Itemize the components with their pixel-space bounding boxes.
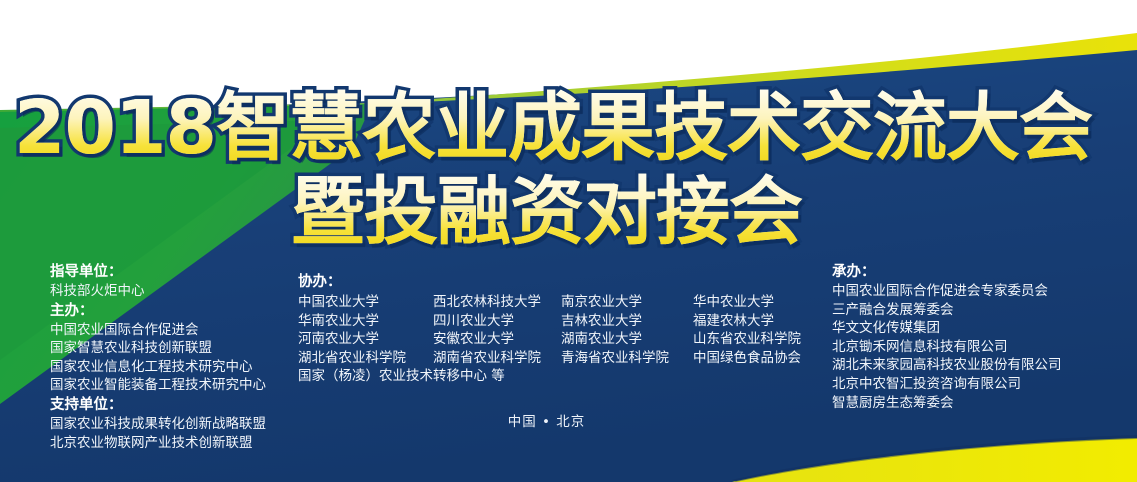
- assistant-item: 湖南农业大学: [561, 330, 693, 349]
- assistant-item: 青海省农业科学院: [561, 349, 693, 368]
- assistant-institution-grid: 中国农业大学 西北农林科技大学 南京农业大学 华中农业大学 华南农业大学 四川农…: [298, 293, 801, 367]
- assistant-item: 南京农业大学: [561, 293, 693, 312]
- organizer-item: 国家农业信息化工程技术研究中心: [50, 358, 266, 377]
- assistant-item: 安徽农业大学: [433, 330, 561, 349]
- assistant-item: 湖北省农业科学院: [298, 349, 433, 368]
- host-heading: 承办：: [832, 262, 1062, 282]
- assistant-item: 西北农林科技大学: [433, 293, 561, 312]
- guide-heading: 指导单位：: [50, 262, 266, 282]
- location-line: 中国 • 北京: [0, 410, 1137, 430]
- assistant-heading: 协办：: [298, 272, 801, 292]
- organizer-item: 国家农业智能装备工程技术研究中心: [50, 376, 266, 395]
- conference-banner: 2018智慧农业成果技术交流大会 2018智慧农业成果技术交流大会 暨投融资对接…: [0, 0, 1137, 482]
- organizer-item: 国家智慧农业科技创新联盟: [50, 339, 266, 358]
- host-item: 湖北未来家园高科技农业股份有限公司: [832, 356, 1062, 375]
- organizer-item: 中国农业国际合作促进会: [50, 321, 266, 340]
- host-item: 华文文化传媒集团: [832, 319, 1062, 338]
- assistant-item: 吉林农业大学: [561, 312, 693, 331]
- assistant-item: 福建农林大学: [693, 312, 801, 331]
- host-item: 北京锄禾网信息科技有限公司: [832, 338, 1062, 357]
- assistant-item: 山东省农业科学院: [693, 330, 801, 349]
- host-item: 中国农业国际合作促进会专家委员会: [832, 282, 1062, 301]
- host-item: 三产融合发展筹委会: [832, 301, 1062, 320]
- assistant-item: 河南农业大学: [298, 330, 433, 349]
- assistant-item: 中国农业大学: [298, 293, 433, 312]
- assistant-item: 华中农业大学: [693, 293, 801, 312]
- credits-block: 指导单位： 科技部火炬中心 主办： 中国农业国际合作促进会 国家智慧农业科技创新…: [0, 0, 1137, 482]
- credits-column-assistant: 协办： 中国农业大学 西北农林科技大学 南京农业大学 华中农业大学 华南农业大学…: [298, 272, 801, 386]
- assistant-item: 华南农业大学: [298, 312, 433, 331]
- assistant-item: 湖南省农业科学院: [433, 349, 561, 368]
- assistant-tail-item: 国家（杨凌）农业技术转移中心 等: [298, 367, 801, 386]
- assistant-item: 中国绿色食品协会: [693, 349, 801, 368]
- supporter-item: 北京农业物联网产业技术创新联盟: [50, 434, 266, 453]
- guide-item: 科技部火炬中心: [50, 282, 266, 301]
- location-text: 中国 • 北京: [508, 414, 586, 430]
- host-item: 北京中农智汇投资咨询有限公司: [832, 375, 1062, 394]
- assistant-item: 四川农业大学: [433, 312, 561, 331]
- organizer-heading: 主办：: [50, 301, 266, 321]
- credits-column-host: 承办： 中国农业国际合作促进会专家委员会 三产融合发展筹委会 华文文化传媒集团 …: [832, 262, 1062, 412]
